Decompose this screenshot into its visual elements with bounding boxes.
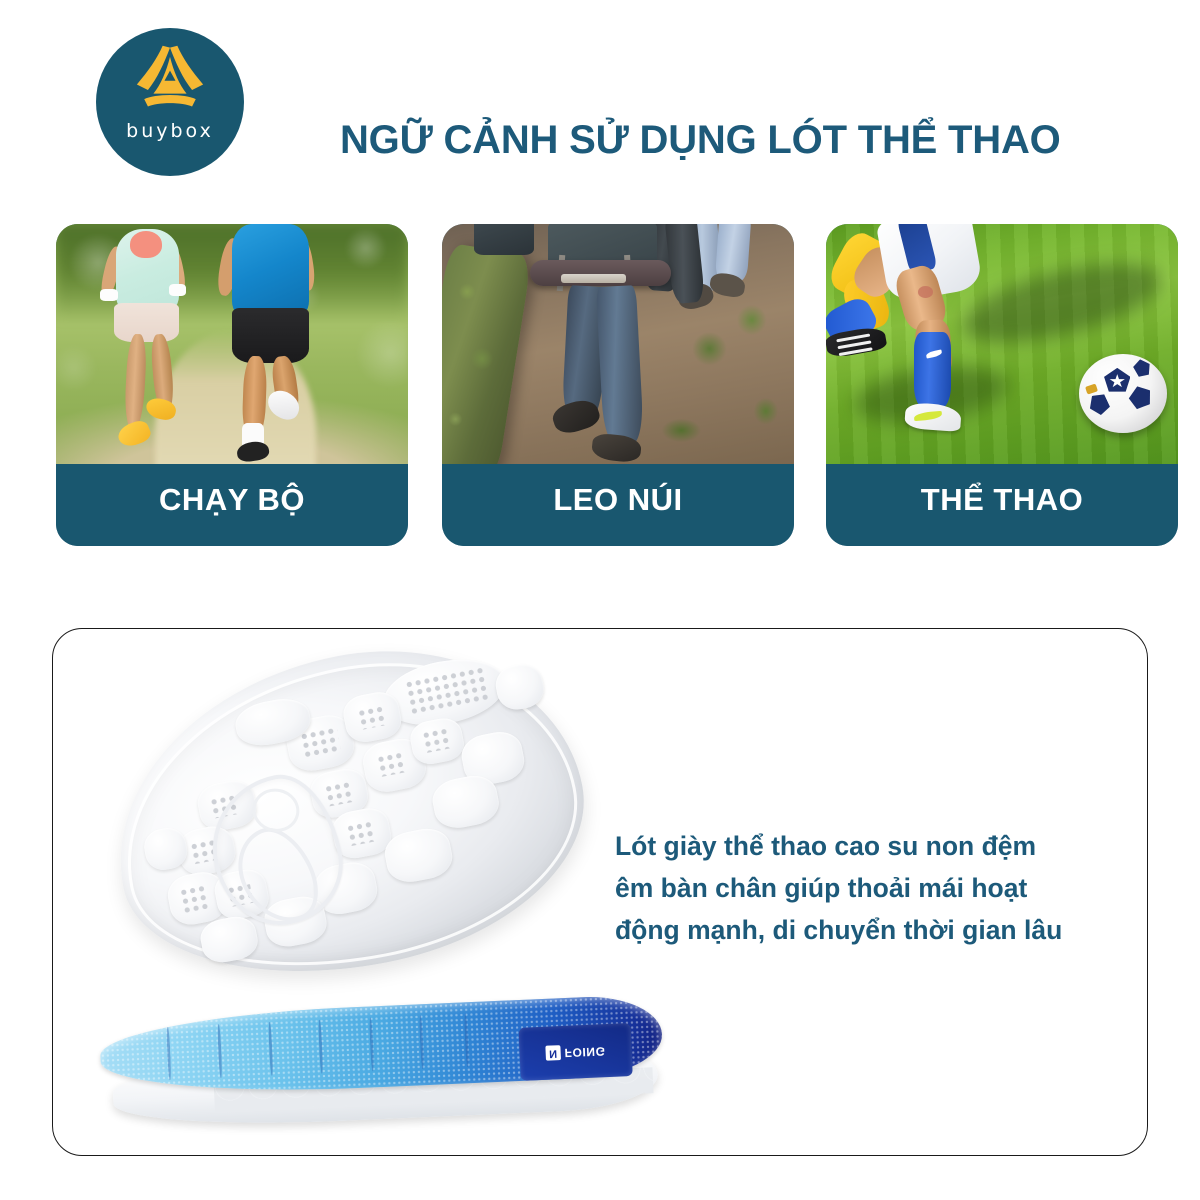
brand-badge-text: FOING: [564, 1043, 606, 1059]
photo-runners-on-trail: [56, 224, 408, 464]
product-description-line-2: êm bàn chân giúp thoải mái hoạt: [615, 867, 1115, 909]
use-case-card-row: CHẠY BỘ LEO NÚI: [0, 224, 1200, 550]
use-case-card-hiking[interactable]: LEO NÚI: [442, 224, 794, 546]
brand-badge-letter: N: [545, 1045, 561, 1061]
photo-soccer-player-with-ball: [826, 224, 1178, 464]
brand-logo-wordmark: buybox: [126, 120, 214, 142]
brand-logo-badge[interactable]: buybox: [96, 28, 244, 176]
use-case-label-sport: THỂ THAO: [826, 464, 1178, 546]
product-description-line-1: Lót giày thể thao cao su non đệm: [615, 825, 1115, 867]
insole-brand-badge: N FOING: [518, 1023, 633, 1081]
use-case-card-sport[interactable]: THỂ THAO: [826, 224, 1178, 546]
product-detail-panel: N FOING Lót giày thể thao cao su non đệm…: [52, 628, 1148, 1156]
use-case-label-hiking: LEO NÚI: [442, 464, 794, 546]
page-header: buybox NGỮ CẢNH SỬ DỤNG LÓT THỂ THAO: [0, 0, 1200, 196]
page-title: NGỮ CẢNH SỬ DỤNG LÓT THỂ THAO: [340, 112, 1040, 168]
insole-blue-gradient: N FOING: [99, 989, 666, 1139]
soccer-ball: [1079, 354, 1167, 433]
product-description-line-3: động mạnh, di chuyển thời gian lâu: [615, 909, 1115, 951]
photo-hikers-climbing-trail: [442, 224, 794, 464]
insole-white-textured: [88, 615, 609, 1009]
buybox-mountain-logo-icon: [124, 42, 216, 114]
use-case-card-running[interactable]: CHẠY BỘ: [56, 224, 408, 546]
product-description: Lót giày thể thao cao su non đệm êm bàn …: [615, 825, 1115, 951]
use-case-label-running: CHẠY BỘ: [56, 464, 408, 546]
